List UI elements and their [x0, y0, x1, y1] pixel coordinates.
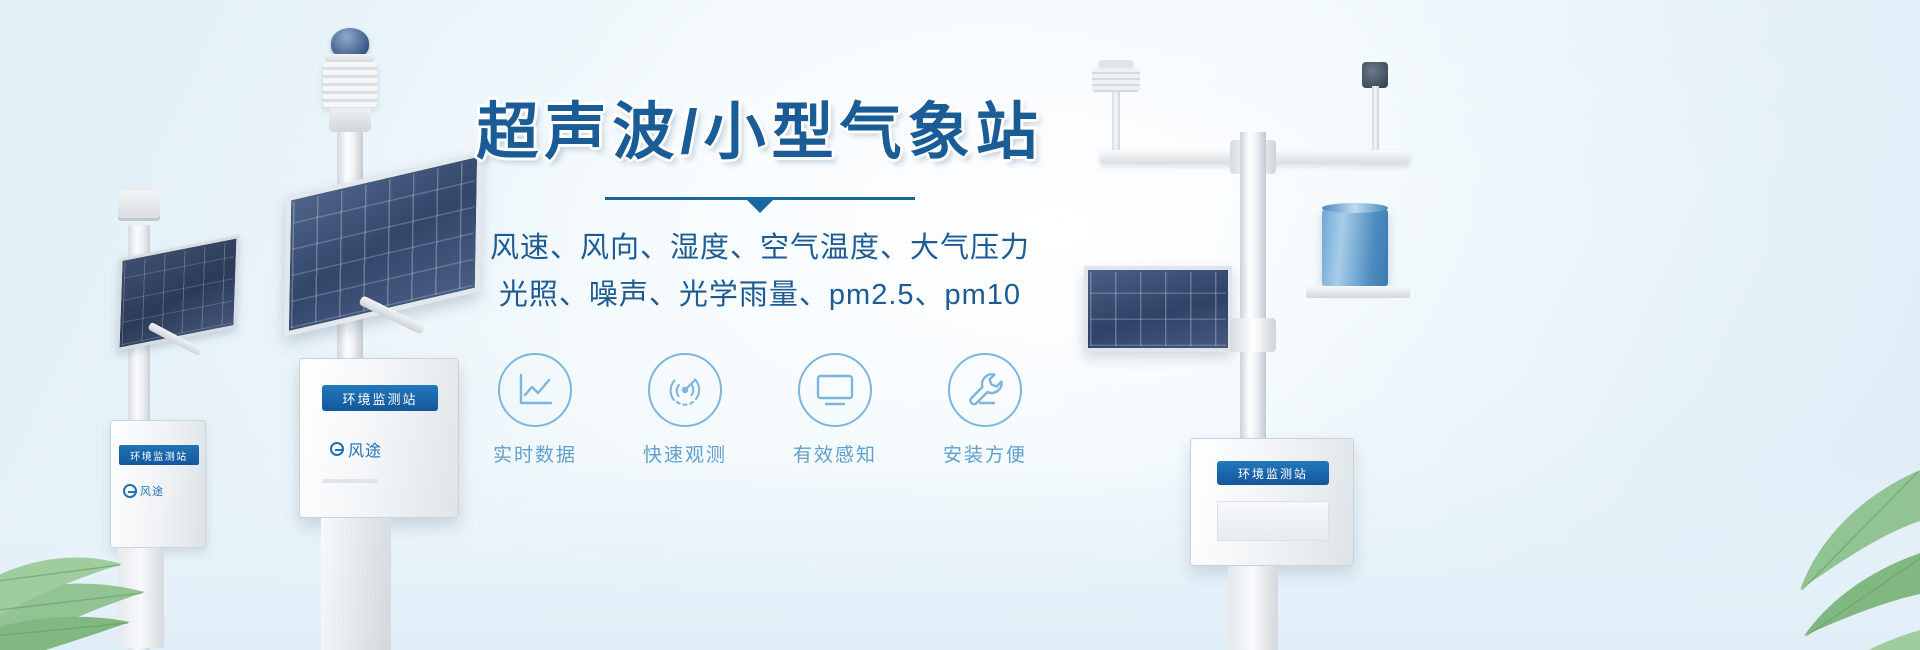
wind-vane-stem	[1372, 86, 1379, 152]
feature-item-easy-installation[interactable]: 安装方便	[930, 353, 1040, 467]
control-cabinet: 环境监测站	[1190, 438, 1354, 566]
line-chart-icon	[515, 371, 555, 409]
title-divider	[605, 193, 915, 209]
dome-ring	[325, 54, 375, 62]
wrench-icon	[964, 369, 1006, 411]
brand-mark-icon	[330, 442, 344, 456]
rain-gauge-sensor	[1322, 208, 1388, 286]
brand-name: 风途	[140, 483, 164, 499]
feature-list: 实时数据 快速观测	[440, 353, 1080, 467]
brand-logo: 风途	[123, 483, 164, 499]
control-cabinet: 环境监测站 风途	[299, 358, 459, 518]
cabinet-sign-label: 环境监测站	[1217, 461, 1329, 485]
weather-station-right: 环境监测站	[1070, 40, 1490, 650]
feature-label: 安装方便	[930, 440, 1040, 467]
cabinet-face-panel	[1217, 501, 1329, 541]
station-base	[321, 518, 391, 650]
station-base	[1228, 566, 1278, 650]
feature-item-fast-observation[interactable]: 快速观测	[630, 353, 740, 467]
ultrasonic-wind-sensor	[1092, 68, 1140, 92]
feature-label: 实时数据	[480, 440, 590, 467]
wind-vane-sensor	[1362, 62, 1388, 88]
radiation-shield	[323, 62, 377, 108]
feature-icon-circle	[648, 353, 722, 427]
weather-station-left: 环境监测站 风途	[100, 185, 280, 650]
divider-triangle-icon	[747, 200, 773, 213]
brand-name: 风途	[348, 437, 382, 461]
feature-icon-circle	[798, 353, 872, 427]
page-title: 超声波/小型气象站	[440, 96, 1080, 169]
mast-collar-lower	[1230, 318, 1276, 352]
equipment-shelf	[1306, 286, 1410, 298]
cabinet-vent	[322, 479, 378, 483]
subtitle-block: 风速、风向、湿度、空气温度、大气压力 光照、噪声、光学雨量、pm2.5、pm10	[440, 225, 1080, 319]
cabinet-sign-label: 环境监测站	[322, 385, 438, 411]
ultrasonic-sensor-stem	[1112, 92, 1120, 152]
feature-icon-circle	[948, 353, 1022, 427]
radiation-shield-sensor	[118, 191, 160, 221]
brand-mark-icon	[123, 484, 137, 498]
cabinet-sign-label: 环境监测站	[119, 445, 199, 465]
monitor-icon	[814, 373, 856, 407]
radar-signal-icon	[664, 369, 706, 411]
feature-label: 快速观测	[630, 440, 740, 467]
subtitle-line-2: 光照、噪声、光学雨量、pm2.5、pm10	[440, 272, 1080, 319]
station-base	[118, 548, 164, 648]
feature-icon-circle	[498, 353, 572, 427]
product-banner: 环境监测站 风途 环境监测站 风途 超声波/小型气象站	[0, 0, 1920, 650]
banner-text-block: 超声波/小型气象站 风速、风向、湿度、空气温度、大气压力 光照、噪声、光学雨量、…	[440, 96, 1080, 467]
radiation-shield-base	[329, 108, 371, 132]
subtitle-line-1: 风速、风向、湿度、空气温度、大气压力	[440, 225, 1080, 272]
palm-leaf-decoration-right	[1680, 430, 1920, 650]
brand-logo: 风途	[330, 437, 382, 461]
feature-item-realtime-data[interactable]: 实时数据	[480, 353, 590, 467]
solar-panel	[1084, 266, 1232, 352]
feature-item-effective-sensing[interactable]: 有效感知	[780, 353, 890, 467]
feature-label: 有效感知	[780, 440, 890, 467]
control-cabinet: 环境监测站 风途	[110, 420, 206, 548]
